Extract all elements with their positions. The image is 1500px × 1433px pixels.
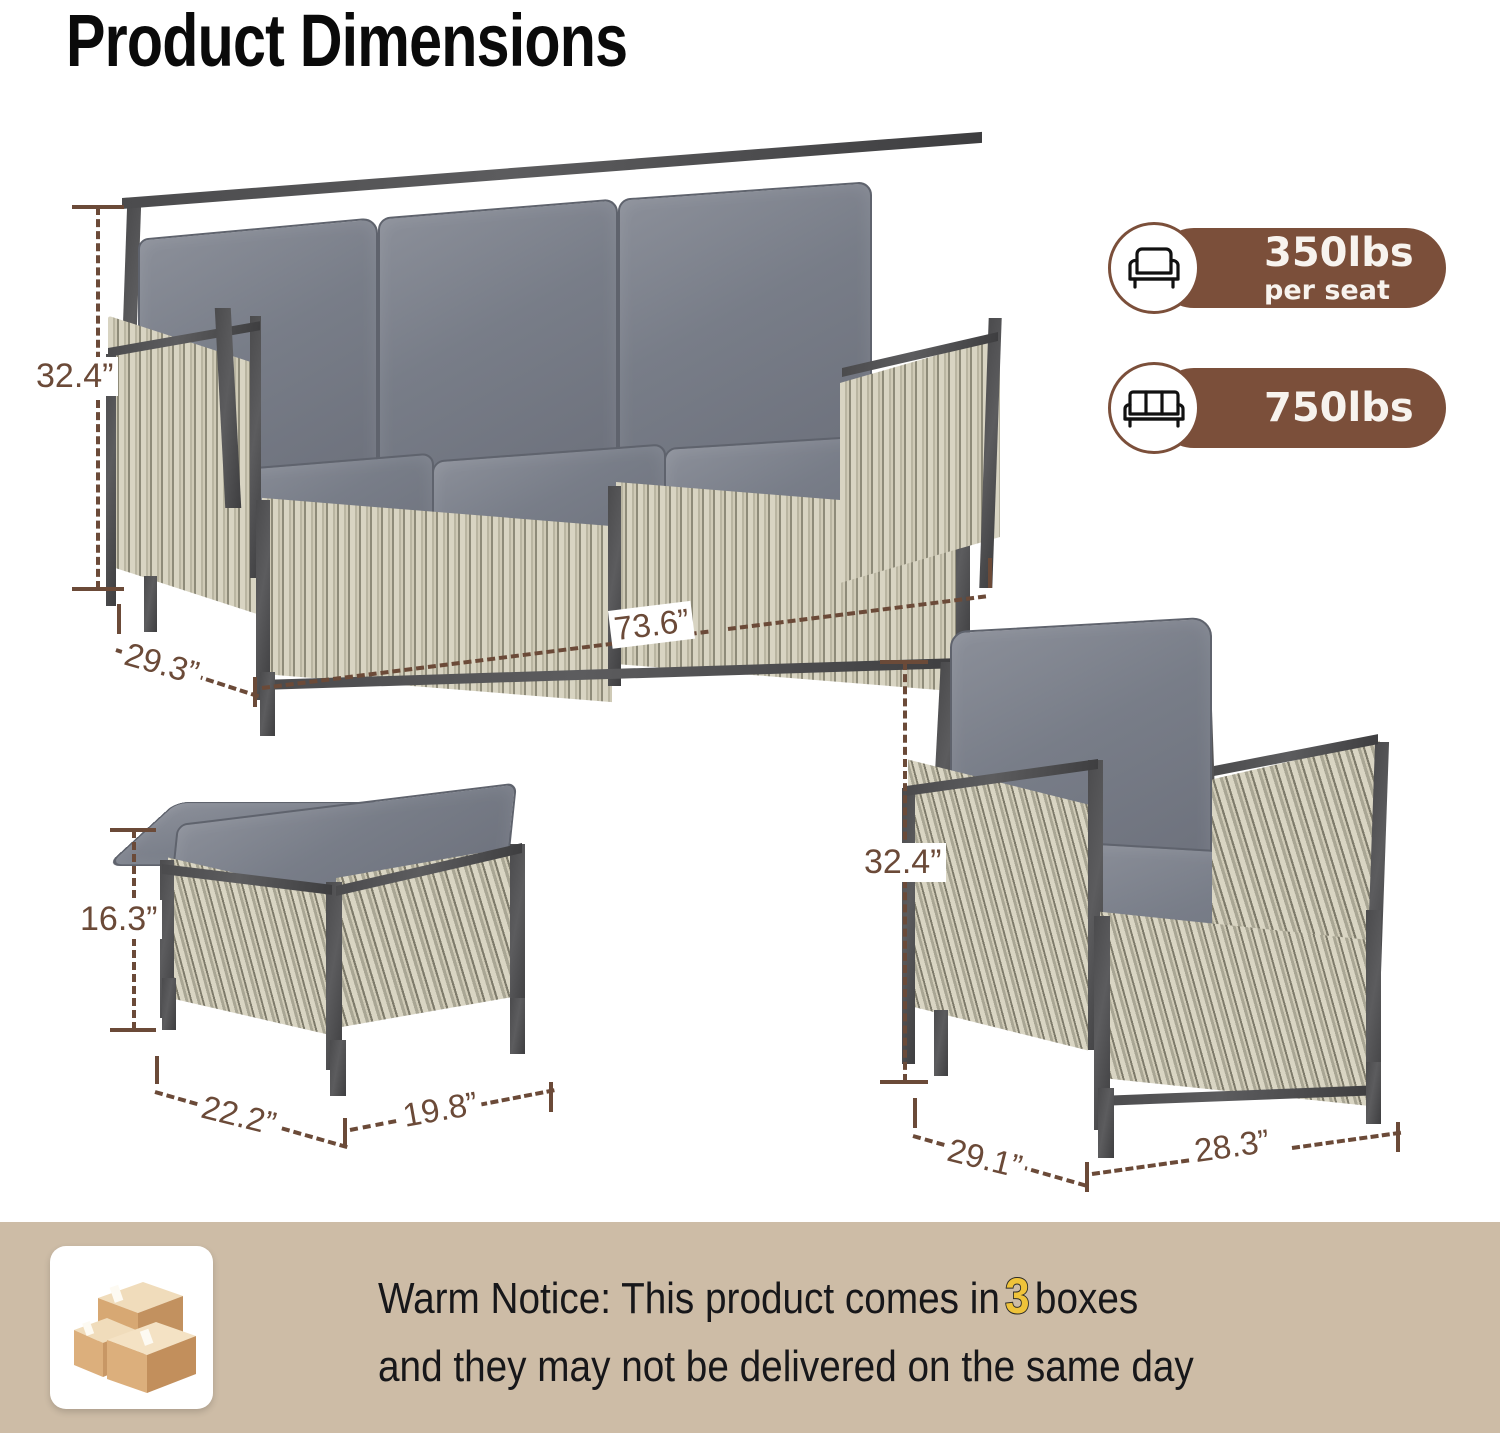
sofa-icon: [1108, 362, 1200, 454]
product-image-ottoman: [150, 790, 570, 1110]
dim-label-armchair-height: 32.4”: [860, 843, 946, 882]
notice-line-1: Warm Notice: This product comes in3boxes: [378, 1258, 1337, 1334]
warm-notice-banner: Warm Notice: This product comes in3boxes…: [0, 1222, 1500, 1433]
dim-cap: [253, 677, 257, 707]
dim-cap: [1396, 1122, 1400, 1152]
product-image-sofa: [100, 140, 1060, 660]
box-count: 3: [1005, 1268, 1029, 1324]
badge-750lbs-total: 750lbs: [1108, 362, 1414, 454]
badge-value: 350lbs: [1264, 233, 1414, 273]
product-image-armchair: [900, 610, 1420, 1170]
notice-line1-before: Warm Notice: This product comes in: [378, 1274, 1000, 1323]
badge-text: 350lbs per seat: [1264, 233, 1414, 304]
dim-cap: [880, 1080, 928, 1084]
notice-line-2: and they may not be delivered on the sam…: [378, 1334, 1337, 1401]
cardboard-boxes-icon: [50, 1246, 213, 1409]
dim-cap: [1085, 1162, 1089, 1192]
dim-cap: [913, 1098, 917, 1128]
dim-cap: [343, 1118, 347, 1148]
dim-cap: [155, 1056, 159, 1084]
badge-350lbs-per-seat: 350lbs per seat: [1108, 222, 1414, 314]
dim-label-sofa-height: 32.4”: [32, 357, 118, 396]
dim-cap: [117, 604, 121, 634]
warm-notice-text: Warm Notice: This product comes in3boxes…: [378, 1258, 1337, 1401]
notice-line1-after: boxes: [1035, 1274, 1138, 1323]
dim-cap: [72, 587, 124, 591]
infographic-canvas: Product Dimensions 350lbs per seat: [0, 0, 1500, 1433]
armchair-icon: [1108, 222, 1200, 314]
dim-label-ottoman-height: 16.3”: [76, 900, 162, 939]
dim-line-sofa-height: [96, 207, 100, 589]
badge-sub: per seat: [1264, 277, 1414, 304]
page-title: Product Dimensions: [66, 0, 627, 83]
dim-cap: [988, 558, 992, 588]
dim-cap: [110, 1028, 156, 1032]
rope-weave-panel: [1100, 912, 1372, 1107]
dim-cap: [549, 1082, 553, 1112]
badge-text: 750lbs: [1264, 388, 1414, 428]
rope-weave-panel: [908, 760, 1088, 1051]
badge-value: 750lbs: [1264, 388, 1414, 428]
